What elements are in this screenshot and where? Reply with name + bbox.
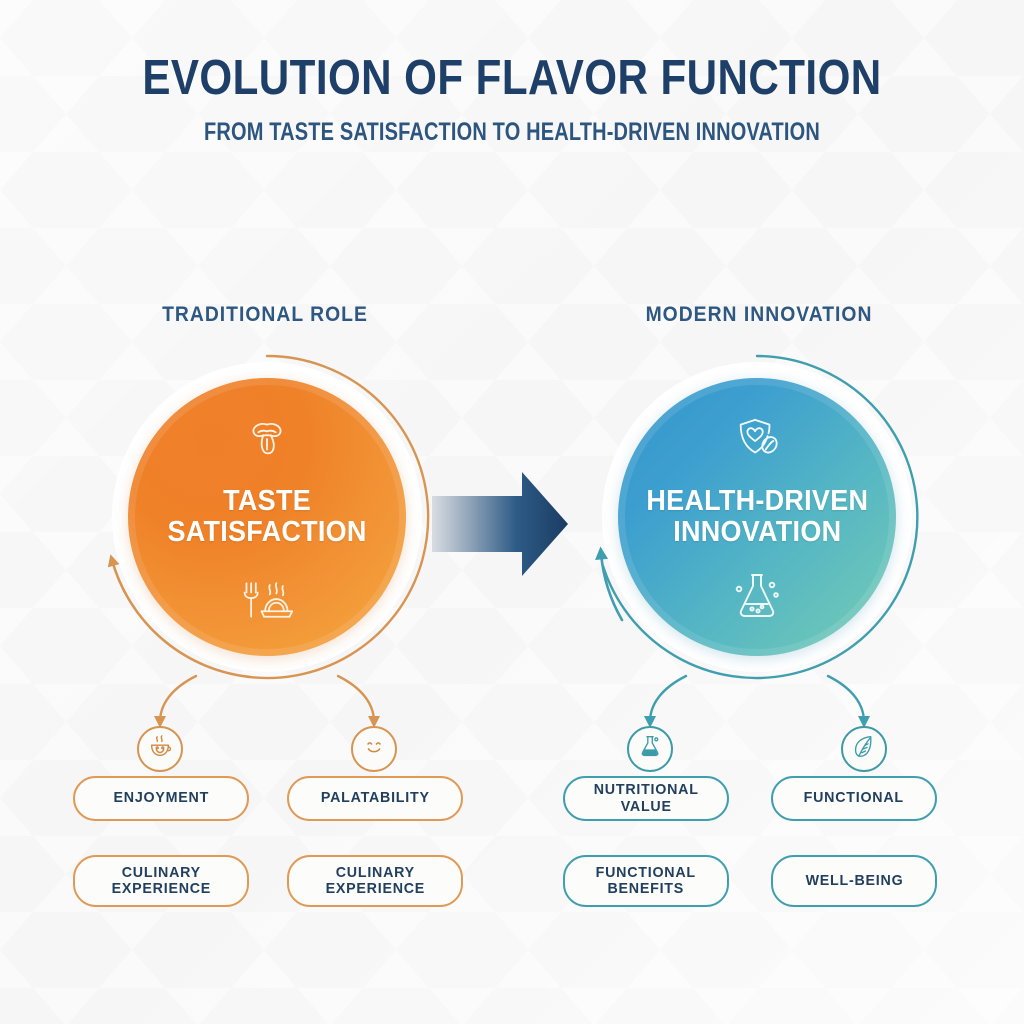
flask-icon: [731, 569, 783, 626]
hot-bowl-icon: [147, 734, 173, 765]
tongue-icon: [244, 416, 290, 467]
flask-small-icon-badge[interactable]: [627, 726, 673, 772]
smiley-face-icon: [360, 733, 388, 766]
leaf-icon: [852, 734, 877, 764]
header: EVOLUTION OF FLAVOR FUNCTION FROM TASTE …: [0, 54, 1024, 145]
pill-nutritional-value[interactable]: NUTRITIONAL VALUE: [563, 776, 729, 821]
page-title: EVOLUTION OF FLAVOR FUNCTION: [72, 54, 953, 103]
flask-small-icon: [638, 734, 663, 764]
traditional-role-circle[interactable]: TASTE SATISFACTION: [128, 378, 406, 656]
traditional-role-label: TASTE SATISFACTION: [167, 486, 366, 547]
modern-innovation-label: HEALTH-DRIVEN INNOVATION: [646, 486, 868, 547]
pill-functional[interactable]: FUNCTIONAL: [771, 776, 937, 821]
pill-enjoyment[interactable]: ENJOYMENT: [73, 776, 249, 821]
smiley-face-icon-badge[interactable]: [351, 726, 397, 772]
pill-functional-benefits[interactable]: FUNCTIONAL BENEFITS: [563, 855, 729, 907]
shield-heart-leaf-icon: [733, 416, 781, 469]
modern-innovation-circle[interactable]: HEALTH-DRIVEN INNOVATION: [618, 378, 896, 656]
pill-well-being[interactable]: WELL-BEING: [771, 855, 937, 907]
hot-bowl-icon-badge[interactable]: [137, 726, 183, 772]
leaf-icon-badge[interactable]: [841, 726, 887, 772]
page-subtitle: FROM TASTE SATISFACTION TO HEALTH-DRIVEN…: [102, 120, 921, 145]
pill-culinary-experience-1[interactable]: CULINARY EXPERIENCE: [73, 855, 249, 907]
pill-culinary-experience-2[interactable]: CULINARY EXPERIENCE: [287, 855, 463, 907]
left-column-header: TRADITIONAL ROLE: [21, 303, 509, 327]
pill-palatability[interactable]: PALATABILITY: [287, 776, 463, 821]
right-column-header: MODERN INNOVATION: [515, 303, 1003, 327]
fork-and-pasta-icon: [239, 579, 295, 626]
